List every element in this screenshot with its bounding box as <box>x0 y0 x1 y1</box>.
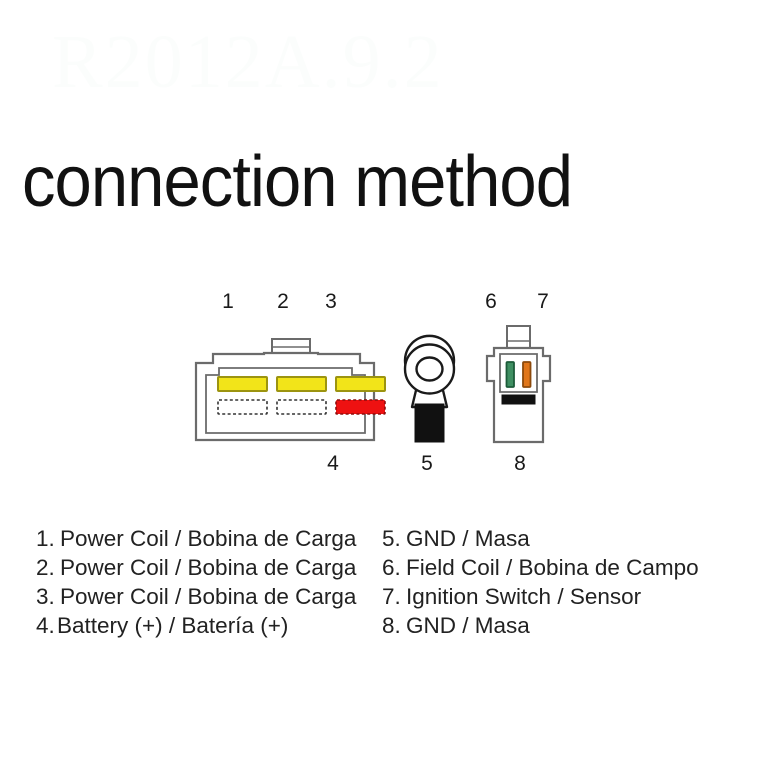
legend-column-left: 1. Power Coil / Bobina de Carga 2. Power… <box>0 524 374 640</box>
connector-2pin-art <box>487 326 550 442</box>
latch-tab-icon <box>272 339 310 353</box>
legend-item-5: 5. GND / Masa <box>382 524 764 553</box>
legend-text-5: GND / Masa <box>406 524 530 553</box>
legend-item-2: 2. Power Coil / Bobina de Carga <box>36 553 374 582</box>
legend-text-7: Ignition Switch / Sensor <box>406 582 641 611</box>
terminal-pin-1 <box>218 377 267 391</box>
ring-terminal-hole <box>417 358 443 381</box>
legend-number-8: 8. <box>382 611 406 640</box>
terminal-pin-2 <box>277 377 326 391</box>
connector-2pin-latch-icon <box>507 326 530 348</box>
watermark-text: R2012A.9.2 <box>52 24 444 100</box>
legend-item-4: 4. Battery (+) / Batería (+) <box>36 611 374 640</box>
legend-text-1: Power Coil / Bobina de Carga <box>60 524 356 553</box>
pin-legend: 1. Power Coil / Bobina de Carga 2. Power… <box>0 524 764 640</box>
ring-terminal-art <box>405 336 454 442</box>
connector-2pin-cavity <box>500 354 537 392</box>
legend-text-6: Field Coil / Bobina de Campo <box>406 553 699 582</box>
legend-number-6: 6. <box>382 553 406 582</box>
legend-column-right: 5. GND / Masa 6. Field Coil / Bobina de … <box>374 524 764 640</box>
diagram-artwork <box>0 270 764 490</box>
legend-text-8: GND / Masa <box>406 611 530 640</box>
legend-number-2: 2. <box>36 553 60 582</box>
terminal-empty-middle <box>277 400 326 414</box>
legend-text-2: Power Coil / Bobina de Carga <box>60 553 356 582</box>
legend-number-4: 4. <box>36 611 57 640</box>
connector-4pin-art <box>196 339 385 440</box>
page-title: connection method <box>22 143 572 222</box>
terminal-pin-3 <box>336 377 385 391</box>
terminal-pin-8 <box>502 395 535 404</box>
connector-diagram: 1 2 3 4 5 6 7 8 <box>0 270 764 490</box>
legend-item-8: 8. GND / Masa <box>382 611 764 640</box>
legend-item-1: 1. Power Coil / Bobina de Carga <box>36 524 374 553</box>
legend-text-4: Battery (+) / Batería (+) <box>57 611 288 640</box>
terminal-empty-left <box>218 400 267 414</box>
legend-number-1: 1. <box>36 524 60 553</box>
legend-text-3: Power Coil / Bobina de Carga <box>60 582 356 611</box>
legend-item-3: 3. Power Coil / Bobina de Carga <box>36 582 374 611</box>
terminal-pin-7 <box>523 362 531 387</box>
ring-terminal-shank <box>415 404 444 442</box>
legend-item-7: 7. Ignition Switch / Sensor <box>382 582 764 611</box>
legend-item-6: 6. Field Coil / Bobina de Campo <box>382 553 764 582</box>
legend-number-5: 5. <box>382 524 406 553</box>
legend-number-3: 3. <box>36 582 60 611</box>
terminal-pin-4 <box>336 400 385 414</box>
legend-number-7: 7. <box>382 582 406 611</box>
terminal-pin-6 <box>507 362 515 387</box>
